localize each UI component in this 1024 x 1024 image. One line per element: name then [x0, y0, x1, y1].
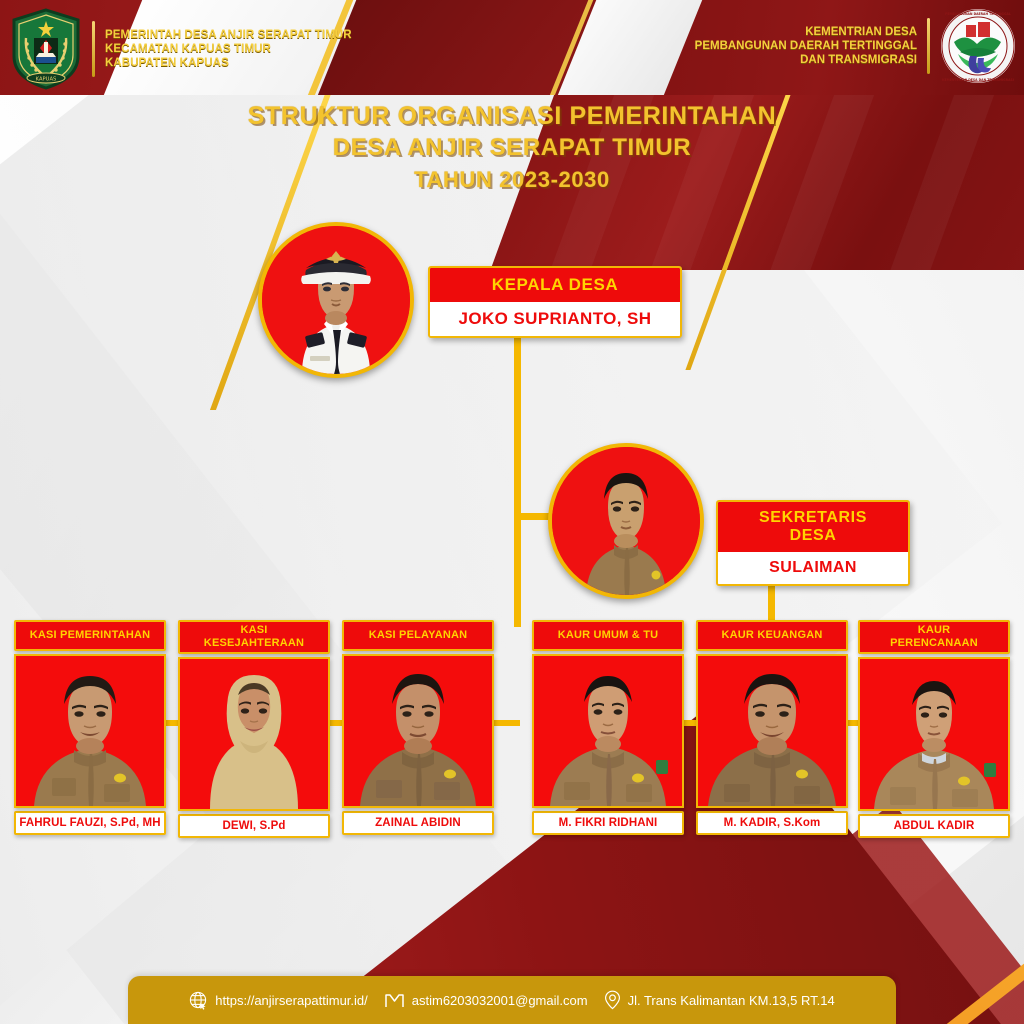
staff-role: KASI PEMERINTAHAN	[14, 620, 166, 651]
staff-role-line-1: KASI	[240, 624, 267, 636]
sekretaris-desa-role: SEKRETARIS DESA	[718, 502, 908, 552]
footer-address-text: Jl. Trans Kalimantan KM.13,5 RT.14	[628, 993, 835, 1008]
header-left-group: KAPUAS PEMERINTAH DESA ANJIR SERAPAT TIM…	[10, 8, 352, 90]
staff-photo	[342, 654, 494, 808]
kemendesa-pdtt-logo-icon: PEMBANGUNAN DAERAH TERTINGGAL KEMENTERIA…	[940, 8, 1016, 84]
staff-photo	[696, 654, 848, 808]
staff-name: ZAINAL ABIDIN	[342, 811, 494, 835]
svg-text:PEMBANGUNAN DAERAH TERTINGGAL: PEMBANGUNAN DAERAH TERTINGGAL	[945, 12, 1011, 16]
staff-role-line-1: KASI PELAYANAN	[369, 629, 468, 641]
staff-role-line-2: KESEJAHTERAAN	[182, 637, 326, 650]
kepala-desa-photo	[258, 222, 414, 378]
header-right-text: KEMENTRIAN DESA PEMBANGUNAN DAERAH TERTI…	[695, 26, 917, 67]
staff-photo	[532, 654, 684, 808]
footer-website-text: https://anjirserapattimur.id/	[215, 993, 367, 1008]
staff-photo	[178, 657, 330, 811]
staff-photo	[14, 654, 166, 808]
staff-name: M. FIKRI RIDHANI	[532, 811, 684, 835]
header-left-text: PEMERINTAH DESA ANJIR SERAPAT TIMUR KECA…	[105, 29, 352, 70]
footer-address: Jl. Trans Kalimantan KM.13,5 RT.14	[604, 990, 835, 1010]
footer-email[interactable]: astim6203032001@gmail.com	[384, 992, 588, 1009]
header-left-divider	[92, 21, 95, 77]
staff-photo	[858, 657, 1010, 811]
svg-text:KEMENTERIAN DESA DAN TRANSMIG: KEMENTERIAN DESA DAN TRANSMIGRASI	[942, 78, 1014, 82]
staff-card: KASI KESEJAHTERAAN DEWI, S.	[178, 620, 330, 838]
title-line-1: STRUKTUR ORGANISASI PEMERINTAHAN	[0, 100, 1024, 132]
kepala-desa-label-box: KEPALA DESA JOKO SUPRIANTO, SH	[428, 266, 682, 338]
staff-card: KAUR PERENCANAAN	[858, 620, 1010, 838]
footer-contact-bar: https://anjirserapattimur.id/ astim62030…	[128, 976, 896, 1024]
staff-role: KASI KESEJAHTERAAN	[178, 620, 330, 654]
node-kepala-desa: KEPALA DESA JOKO SUPRIANTO, SH	[258, 222, 682, 378]
staff-name: ABDUL KADIR	[858, 814, 1010, 838]
staff-role: KAUR PERENCANAAN	[858, 620, 1010, 654]
kapuas-regency-shield-logo-icon: KAPUAS	[10, 8, 82, 90]
header-left-line-2: KECAMATAN KAPUAS TIMUR	[105, 43, 352, 56]
header-left-line-1: PEMERINTAH DESA ANJIR SERAPAT TIMUR	[105, 29, 352, 42]
staff-name: FAHRUL FAUZI, S.Pd, MH	[14, 811, 166, 835]
title-line-2: DESA ANJIR SERAPAT TIMUR	[0, 132, 1024, 164]
staff-role-line-1: KAUR UMUM & TU	[558, 629, 659, 641]
staff-card: KASI PELAYANAN	[342, 620, 494, 835]
staff-role-line-2: PERENCANAAN	[862, 637, 1006, 650]
map-pin-icon	[604, 990, 621, 1010]
staff-role-line-1: KAUR	[918, 624, 951, 636]
connector-left-vertical	[514, 513, 521, 627]
staff-card: KAUR KEUANGAN	[696, 620, 848, 835]
svg-text:KAPUAS: KAPUAS	[36, 77, 57, 83]
title-line-3: TAHUN 2023-2030	[0, 164, 1024, 196]
kepala-desa-role: KEPALA DESA	[430, 268, 680, 302]
staff-name: DEWI, S.Pd	[178, 814, 330, 838]
header-right-line-3: DAN TRANSMIGRASI	[800, 54, 917, 67]
node-sekretaris-desa: SEKRETARIS DESA SULAIMAN	[548, 443, 910, 599]
header-right-divider	[927, 18, 930, 74]
sekretaris-desa-photo	[548, 443, 704, 599]
header-right-line-1: KEMENTRIAN DESA	[805, 26, 917, 39]
footer-website[interactable]: https://anjirserapattimur.id/	[189, 991, 367, 1010]
staff-role-line-1: KAUR KEUANGAN	[722, 629, 823, 641]
staff-card: KASI PEMERINTAHAN	[14, 620, 166, 835]
poster-title: STRUKTUR ORGANISASI PEMERINTAHAN DESA AN…	[0, 100, 1024, 196]
header-right-group: KEMENTRIAN DESA PEMBANGUNAN DAERAH TERTI…	[695, 8, 1016, 84]
staff-card: KAUR UMUM & TU	[532, 620, 684, 835]
staff-role: KAUR KEUANGAN	[696, 620, 848, 651]
staff-name: M. KADIR, S.Kom	[696, 811, 848, 835]
mail-icon	[384, 992, 405, 1009]
organization-chart-poster: KAPUAS PEMERINTAH DESA ANJIR SERAPAT TIM…	[0, 0, 1024, 1024]
header-right-line-2: PEMBANGUNAN DAERAH TERTINGGAL	[695, 40, 917, 53]
footer-email-text: astim6203032001@gmail.com	[412, 993, 588, 1008]
kepala-desa-name: JOKO SUPRIANTO, SH	[430, 302, 680, 336]
staff-role-line-1: KASI PEMERINTAHAN	[30, 629, 151, 641]
globe-icon	[189, 991, 208, 1010]
staff-role: KASI PELAYANAN	[342, 620, 494, 651]
header-left-line-3: KABUPATEN KAPUAS	[105, 57, 352, 70]
staff-role: KAUR UMUM & TU	[532, 620, 684, 651]
sekretaris-desa-name: SULAIMAN	[718, 552, 908, 584]
sekretaris-desa-label-box: SEKRETARIS DESA SULAIMAN	[716, 500, 910, 586]
